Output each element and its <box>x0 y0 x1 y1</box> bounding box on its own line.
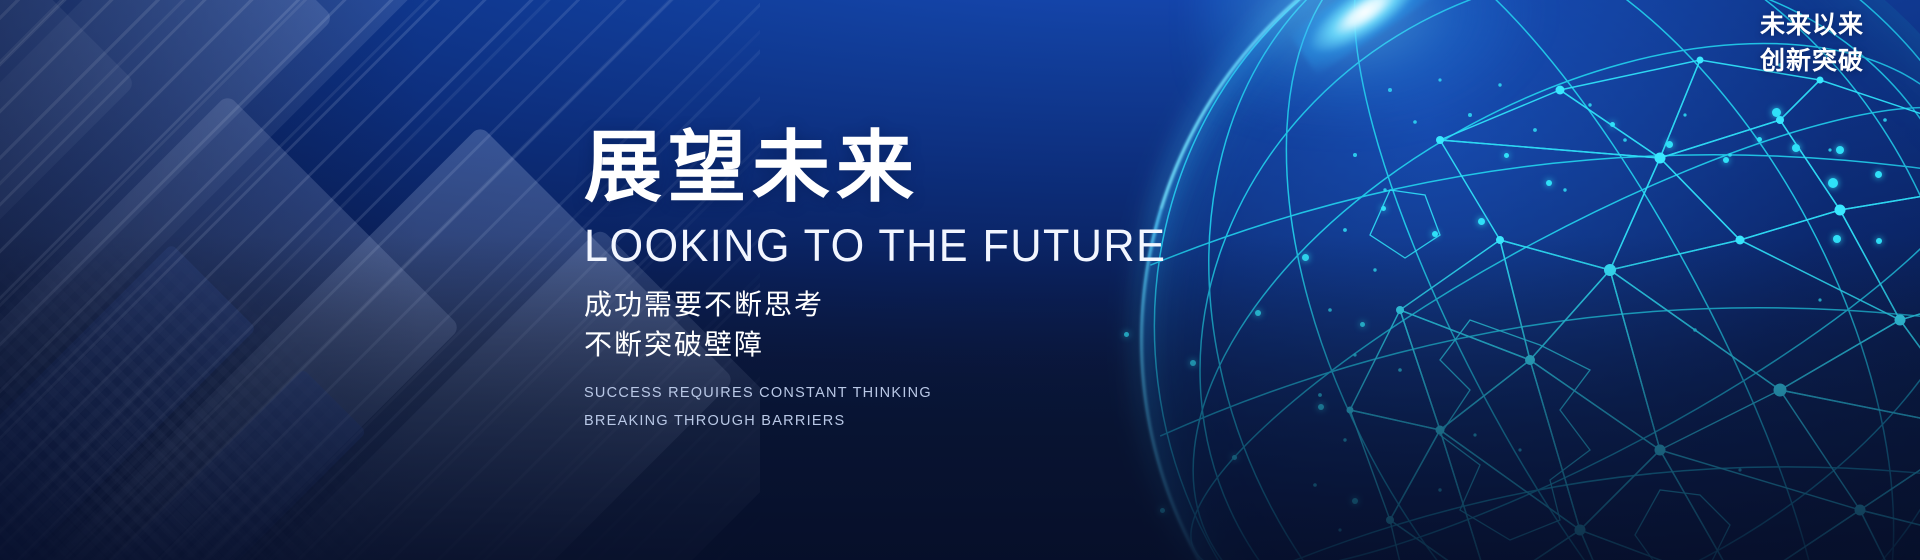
particle <box>1757 137 1762 142</box>
particle <box>1723 157 1729 163</box>
particle <box>1772 108 1781 117</box>
particle <box>1876 238 1882 244</box>
particle <box>1478 218 1485 225</box>
particle <box>1836 146 1844 154</box>
particle <box>1792 144 1800 152</box>
particle <box>1432 231 1438 237</box>
page-title: 展望未来 <box>584 128 1224 206</box>
particle <box>1381 206 1386 211</box>
subtitle-english-line2: BREAKING THROUGH BARRIERS <box>584 407 1224 435</box>
particle <box>1504 153 1509 158</box>
particle <box>1255 310 1261 316</box>
subtitle-chinese-line1: 成功需要不断思考 <box>584 285 1224 325</box>
particle <box>1546 180 1552 186</box>
headline-block: 展望未来 LOOKING TO THE FUTURE 成功需要不断思考 不断突破… <box>584 128 1224 435</box>
particle <box>1352 498 1358 504</box>
particle <box>1318 404 1324 410</box>
corner-tagline-line1: 未来以来 <box>1760 8 1864 44</box>
particle <box>1302 254 1309 261</box>
corner-tagline-line2: 创新突破 <box>1760 44 1864 80</box>
particle <box>1833 235 1841 243</box>
subtitle-english-line1: SUCCESS REQUIRES CONSTANT THINKING <box>584 379 1224 407</box>
particle <box>1875 171 1882 178</box>
corner-tagline: 未来以来 创新突破 <box>1760 8 1864 79</box>
page-title-english: LOOKING TO THE FUTURE <box>584 222 1198 269</box>
particle <box>1610 122 1615 127</box>
banner-root: 未来以来 创新突破 展望未来 LOOKING TO THE FUTURE 成功需… <box>0 0 1920 560</box>
particle <box>1232 455 1237 460</box>
particle <box>1666 141 1673 148</box>
subtitle-chinese-line2: 不断突破壁障 <box>584 325 1224 365</box>
particle <box>1360 322 1365 327</box>
subtitle-chinese: 成功需要不断思考 不断突破壁障 <box>584 285 1224 365</box>
particle <box>1160 508 1165 513</box>
subtitle-english: SUCCESS REQUIRES CONSTANT THINKING BREAK… <box>584 379 1224 436</box>
particle <box>1828 178 1838 188</box>
